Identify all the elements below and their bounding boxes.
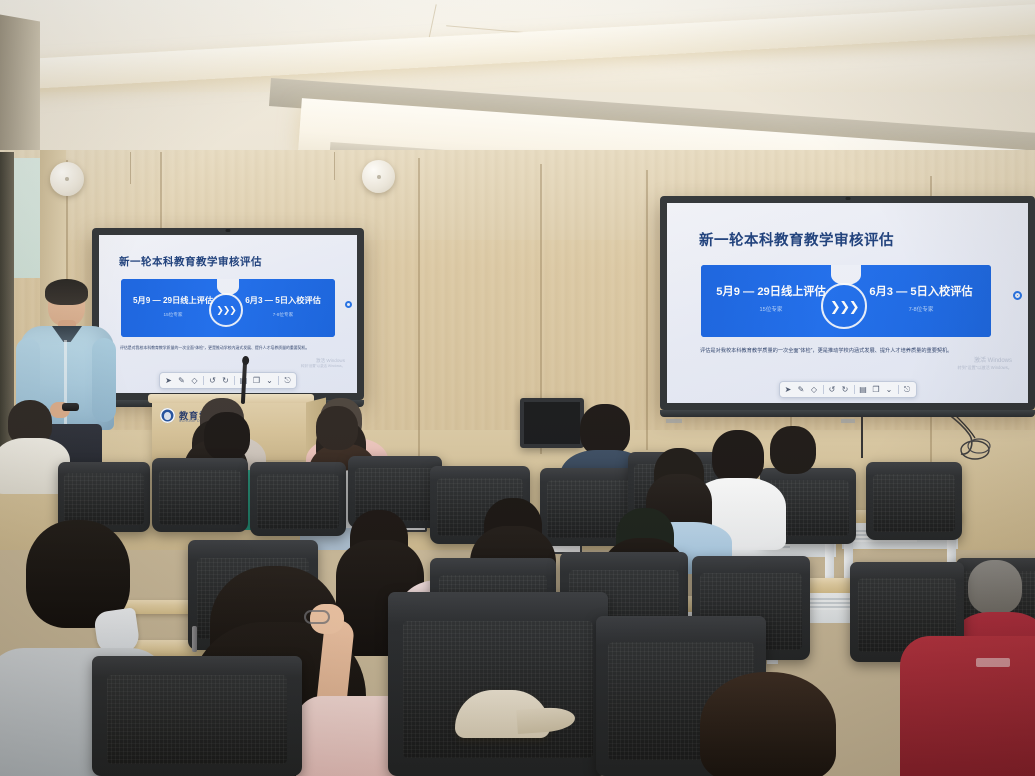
presenter-hair: [45, 279, 88, 305]
toolbar-separator: [203, 376, 204, 385]
audience-member-right-edge: [900, 636, 1035, 776]
chair-backrest: [92, 656, 302, 776]
redo-icon[interactable]: ↻: [840, 384, 851, 395]
exit-icon[interactable]: ⎋: [282, 375, 293, 386]
phase-left: 5月9 — 29日线上评估 15位专家: [705, 283, 837, 313]
slide-body-text: 评估是对我校本科教育教学质量的一次全面“体检”，更是推动学校内涵式发展、提升人才…: [120, 345, 309, 351]
page-icon[interactable]: ▤: [858, 384, 869, 395]
chair-front-left[interactable]: [92, 656, 302, 776]
chair-mesh: [64, 473, 143, 525]
redo-icon[interactable]: ↻: [220, 375, 231, 386]
watermark-line-2: 转到“设置”以激活 Windows。: [958, 365, 1012, 371]
audience-head: [700, 672, 836, 776]
ceiling-wire-left: [130, 152, 131, 184]
phase-left-title: 5月9 — 29日线上评估: [705, 283, 837, 299]
chair-mesh: [159, 470, 242, 525]
cursor-icon[interactable]: ➤: [163, 375, 174, 386]
wall-seam: [418, 158, 420, 458]
display-cable-vertical: [861, 412, 863, 458]
display-camera-icon: [226, 229, 231, 232]
cursor-icon[interactable]: ➤: [783, 384, 794, 395]
chevron-down-icon[interactable]: ⌄: [264, 375, 275, 386]
phase-left: 5月9 — 29日线上评估 15位专家: [125, 294, 221, 318]
left-interactive-display[interactable]: 新一轮本科教育教学审核评估 5月9 — 29日线上评估 15位专家 ❯❯❯ 6月…: [92, 228, 364, 400]
copy-icon[interactable]: ❐: [251, 375, 262, 386]
annotation-toolbar-left[interactable]: ➤ ✎ ◇ ↺ ↻ ▤ ❐ ⌄ ⎋: [159, 372, 297, 389]
audience-head: [204, 412, 250, 460]
slide-body-text: 评估是对我校本科教育教学质量的一次全面“体检”，更是推动学校内涵式发展、提升人才…: [700, 347, 952, 354]
chair-backrest: [866, 462, 962, 540]
banner-notch-top: [831, 265, 861, 285]
toolbar-separator: [278, 376, 279, 385]
slide-right: 新一轮本科教育教学审核评估 5月9 — 29日线上评估 15位专家 ❯❯❯ 6月…: [667, 203, 1028, 403]
left-display-screen[interactable]: 新一轮本科教育教学审核评估 5月9 — 29日线上评估 15位专家 ❯❯❯ 6月…: [99, 235, 357, 393]
slide-left: 新一轮本科教育教学审核评估 5月9 — 29日线上评估 15位专家 ❯❯❯ 6月…: [99, 235, 357, 393]
audience-head: [770, 426, 816, 474]
ceiling-wire-right: [334, 152, 335, 180]
ceiling-speaker-right: [362, 160, 395, 193]
eyeglasses-icon: [304, 610, 330, 624]
display-camera-icon: [845, 197, 850, 200]
audience-head: [580, 404, 630, 456]
audience-head: [968, 560, 1022, 614]
toolbar-separator: [234, 376, 235, 385]
windows-watermark: 激活 Windows 转到“设置”以激活 Windows。: [301, 358, 345, 369]
slide-title: 新一轮本科教育教学审核评估: [699, 229, 894, 250]
chair-mesh: [257, 474, 340, 529]
chevron-down-icon[interactable]: ⌄: [884, 384, 895, 395]
pen-icon[interactable]: ✎: [796, 384, 807, 395]
phase-left-subtitle: 15位专家: [705, 305, 837, 313]
phase-right-subtitle: 7-8位专家: [853, 305, 989, 313]
presenter-arm-right: [92, 338, 116, 422]
chair-mesh: [873, 474, 956, 532]
eraser-icon[interactable]: ◇: [809, 384, 820, 395]
phase-right: 6月3 — 5日入校评估 7-8位专家: [853, 283, 989, 313]
display-brand-label: [666, 419, 682, 423]
slide-banner: 5月9 — 29日线上评估 15位专家 ❯❯❯ 6月3 — 5日入校评估 7-8…: [701, 265, 991, 337]
undo-icon[interactable]: ↺: [207, 375, 218, 386]
pen-icon[interactable]: ✎: [176, 375, 187, 386]
undo-icon[interactable]: ↺: [827, 384, 838, 395]
display-logo: [841, 419, 855, 423]
lecture-hall-photo: 新一轮本科教育教学审核评估 5月9 — 29日线上评估 15位专家 ❯❯❯ 6月…: [0, 0, 1035, 776]
phase-right: 6月3 — 5日入校评估 7-8位专家: [233, 294, 333, 318]
audience-member: [760, 426, 832, 492]
chair-front-center[interactable]: [388, 592, 608, 776]
ceiling-speaker-left: [50, 162, 84, 196]
slide-page-indicator[interactable]: [345, 301, 352, 308]
phase-right-subtitle: 7-8位专家: [233, 312, 333, 318]
right-interactive-display[interactable]: 新一轮本科教育教学审核评估 5月9 — 29日线上评估 15位专家 ❯❯❯ 6月…: [660, 196, 1035, 410]
phase-left-subtitle: 15位专家: [125, 312, 221, 318]
phase-right-title: 6月3 — 5日入校评估: [853, 283, 989, 299]
chair[interactable]: [866, 462, 962, 540]
toolbar-separator: [823, 385, 824, 394]
toolbar-separator: [854, 385, 855, 394]
slide-page-indicator[interactable]: [1013, 291, 1022, 300]
audience-member-front-right: [660, 672, 870, 776]
eraser-icon[interactable]: ◇: [189, 375, 200, 386]
watermark-line-2: 转到“设置”以激活 Windows。: [301, 364, 345, 369]
right-display-bezel-bottom: [660, 410, 1035, 417]
exit-icon[interactable]: ⎋: [902, 384, 913, 395]
slide-title: 新一轮本科教育教学审核评估: [119, 254, 262, 269]
polo-logo: [976, 658, 1010, 667]
school-emblem-icon: [160, 408, 175, 423]
chair-mesh: [107, 675, 288, 764]
copy-icon[interactable]: ❐: [871, 384, 882, 395]
phase-right-title: 6月3 — 5日入校评估: [233, 294, 333, 306]
audience-torso: [900, 636, 1035, 776]
right-display-screen[interactable]: 新一轮本科教育教学审核评估 5月9 — 29日线上评估 15位专家 ❯❯❯ 6月…: [667, 203, 1028, 403]
toolbar-separator: [898, 385, 899, 394]
chair-backrest: [388, 592, 608, 776]
phase-left-title: 5月9 — 29日线上评估: [125, 294, 221, 306]
slide-banner: 5月9 — 29日线上评估 15位专家 ❯❯❯ 6月3 — 5日入校评估 7-8…: [121, 279, 335, 337]
annotation-toolbar-right[interactable]: ➤ ✎ ◇ ↺ ↻ ▤ ❐ ⌄ ⎋: [779, 381, 917, 398]
windows-watermark: 激活 Windows 转到“设置”以激活 Windows。: [958, 357, 1012, 371]
